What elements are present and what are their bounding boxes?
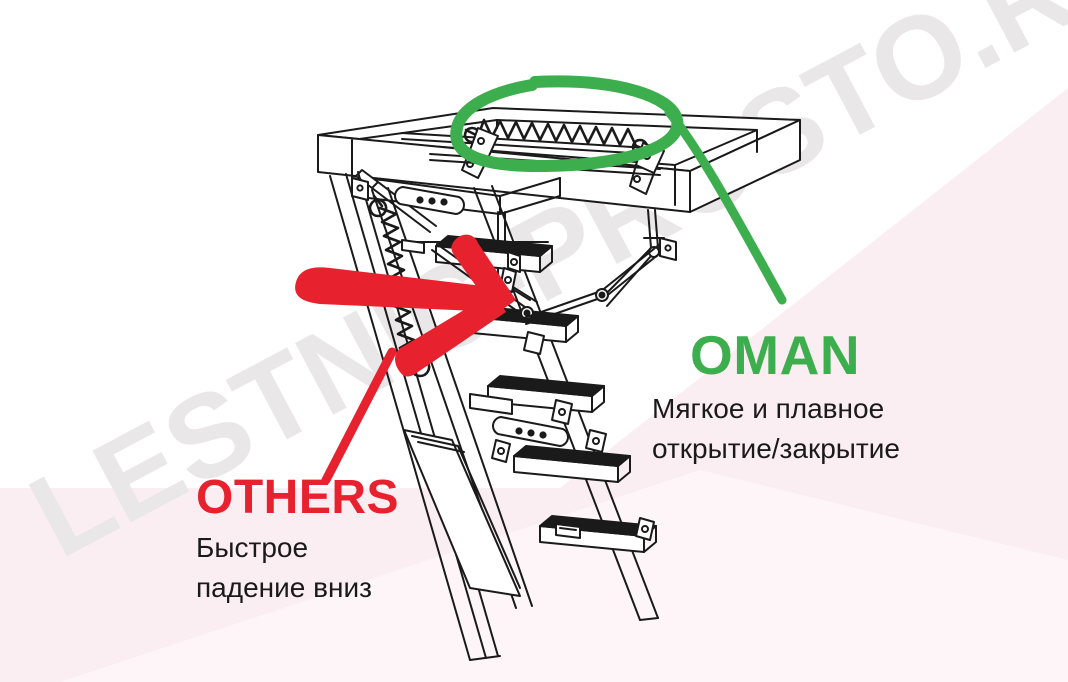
text-layer: OMAN Мягкое и плавное открытие/закрытие …: [0, 0, 1068, 682]
callout-others: OTHERS Быстрое падение вниз: [196, 474, 399, 608]
oman-caption-line-2: открытие/закрытие: [652, 429, 900, 469]
callout-oman: OMAN Мягкое и плавное открытие/закрытие: [652, 328, 900, 469]
infographic-canvas: LESTNIC-PROSTO.RU: [0, 0, 1068, 682]
others-caption-line-2: падение вниз: [196, 568, 399, 608]
others-caption-line-1: Быстрое: [196, 528, 399, 568]
oman-headline: OMAN: [690, 328, 900, 383]
oman-caption-line-1: Мягкое и плавное: [652, 389, 900, 429]
others-headline: OTHERS: [196, 474, 399, 522]
